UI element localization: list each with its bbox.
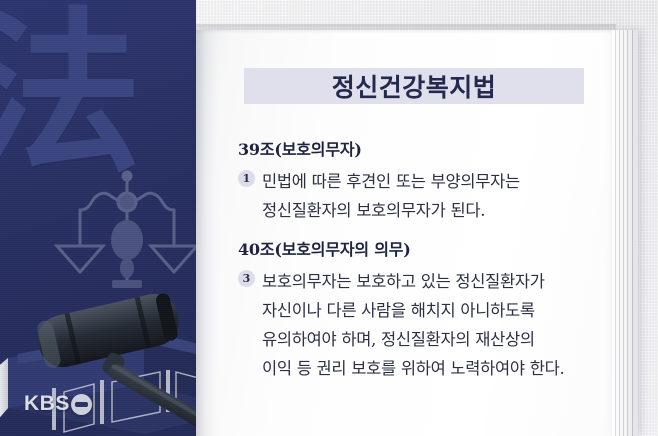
- screenshot-stage: 法: [0, 0, 658, 436]
- article-heading: 40조(보호의무자의 의무): [238, 236, 598, 260]
- clause-number-badge: 3: [238, 270, 255, 287]
- article-block-40: 40조(보호의무자의 의무) 3 보호의무자는 보호하고 있는 정신질환자가 자…: [238, 236, 598, 383]
- clause-line: 정신질환자의 보호의무자가 된다.: [262, 196, 520, 225]
- clause-line: 자신이나 다른 사람을 해치지 아니하도록: [262, 296, 564, 325]
- page-content: 정신건강복지법 39조(보호의무자) 1 민법에 따른 후견인 또는 부양의무자…: [196, 30, 616, 436]
- clause-line: 이익 등 권리 보호를 위하여 노력하여야 한다.: [262, 354, 564, 383]
- clause-number-badge: 1: [238, 170, 255, 187]
- clause-line: 보호의무자는 보호하고 있는 정신질환자가: [262, 267, 564, 296]
- clause-item: 3 보호의무자는 보호하고 있는 정신질환자가 자신이나 다른 사람을 해치지 …: [238, 267, 598, 383]
- page-title: 정신건강복지법: [332, 68, 497, 104]
- clause-line: 유의하여야 하며, 정신질환자의 재산상의: [262, 325, 564, 354]
- scales-of-justice-icon: [52, 168, 196, 318]
- kbs-logo: KBS: [24, 392, 92, 416]
- han-law-character: 法: [0, 6, 142, 182]
- kbs-wordmark: KBS: [24, 392, 70, 416]
- article-heading: 39조(보호의무자): [238, 136, 598, 160]
- clause-text: 보호의무자는 보호하고 있는 정신질환자가 자신이나 다른 사람을 해치지 아니…: [262, 267, 564, 383]
- clause-text: 민법에 따른 후견인 또는 부양의무자는 정신질환자의 보호의무자가 된다.: [262, 167, 520, 225]
- clause-item: 1 민법에 따른 후견인 또는 부양의무자는 정신질환자의 보호의무자가 된다.: [238, 167, 598, 225]
- clause-line: 민법에 따른 후견인 또는 부양의무자는: [262, 167, 520, 196]
- kbs-circle-icon: [71, 394, 92, 415]
- law-title-band: 정신건강복지법: [244, 68, 584, 104]
- article-block-39: 39조(보호의무자) 1 민법에 따른 후견인 또는 부양의무자는 정신질환자의…: [238, 136, 598, 225]
- navy-side-panel: 法: [0, 0, 196, 436]
